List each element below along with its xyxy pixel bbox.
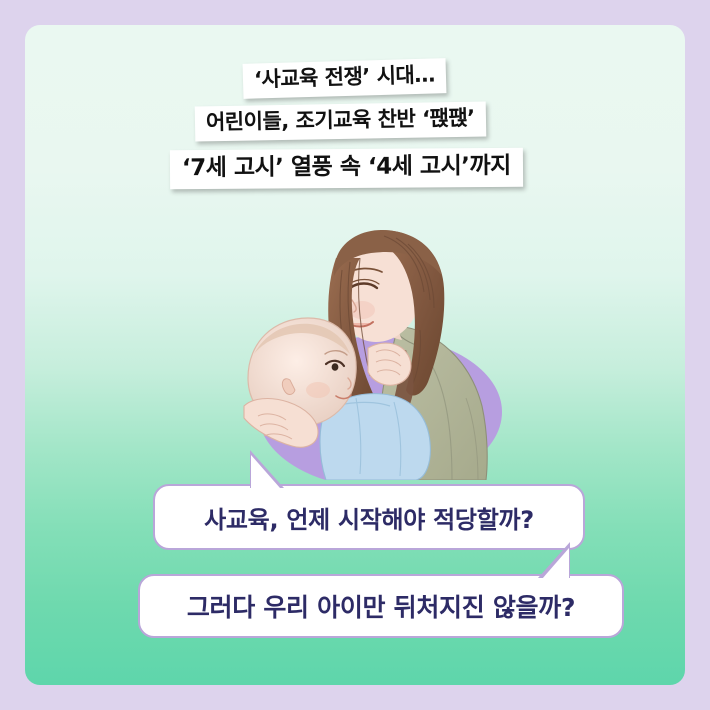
speech-bubble-2: 그러다 우리 아이만 뒤처지진 않을까? <box>138 574 624 638</box>
headline-line-3: ‘7세 고시’ 열풍 속 ‘4세 고시’까지 <box>170 148 523 189</box>
card-frame: ‘사교육 전쟁’ 시대… 어린이들, 조기교육 찬반 ‘팭팭’ ‘7세 고시’ … <box>0 0 710 710</box>
speech-bubble-2-text: 그러다 우리 아이만 뒤처지진 않을까? <box>187 588 575 624</box>
headline-block: ‘사교육 전쟁’ 시대… 어린이들, 조기교육 찬반 ‘팭팭’ ‘7세 고시’ … <box>25 61 685 221</box>
bubble-tail-fill-1 <box>251 455 280 488</box>
bubble-tail-fill-2 <box>542 548 569 579</box>
content-panel: ‘사교육 전쟁’ 시대… 어린이들, 조기교육 찬반 ‘팭팭’ ‘7세 고시’ … <box>25 25 685 685</box>
speech-bubble-1: 사교육, 언제 시작해야 적당할까? <box>153 484 585 550</box>
mother-and-baby-illustration <box>230 230 530 480</box>
headline-line-2: 어린이들, 조기교육 찬반 ‘팭팭’ <box>195 101 486 141</box>
speech-bubble-1-text: 사교육, 언제 시작해야 적당할까? <box>204 500 534 535</box>
headline-line-1: ‘사교육 전쟁’ 시대… <box>243 58 447 99</box>
